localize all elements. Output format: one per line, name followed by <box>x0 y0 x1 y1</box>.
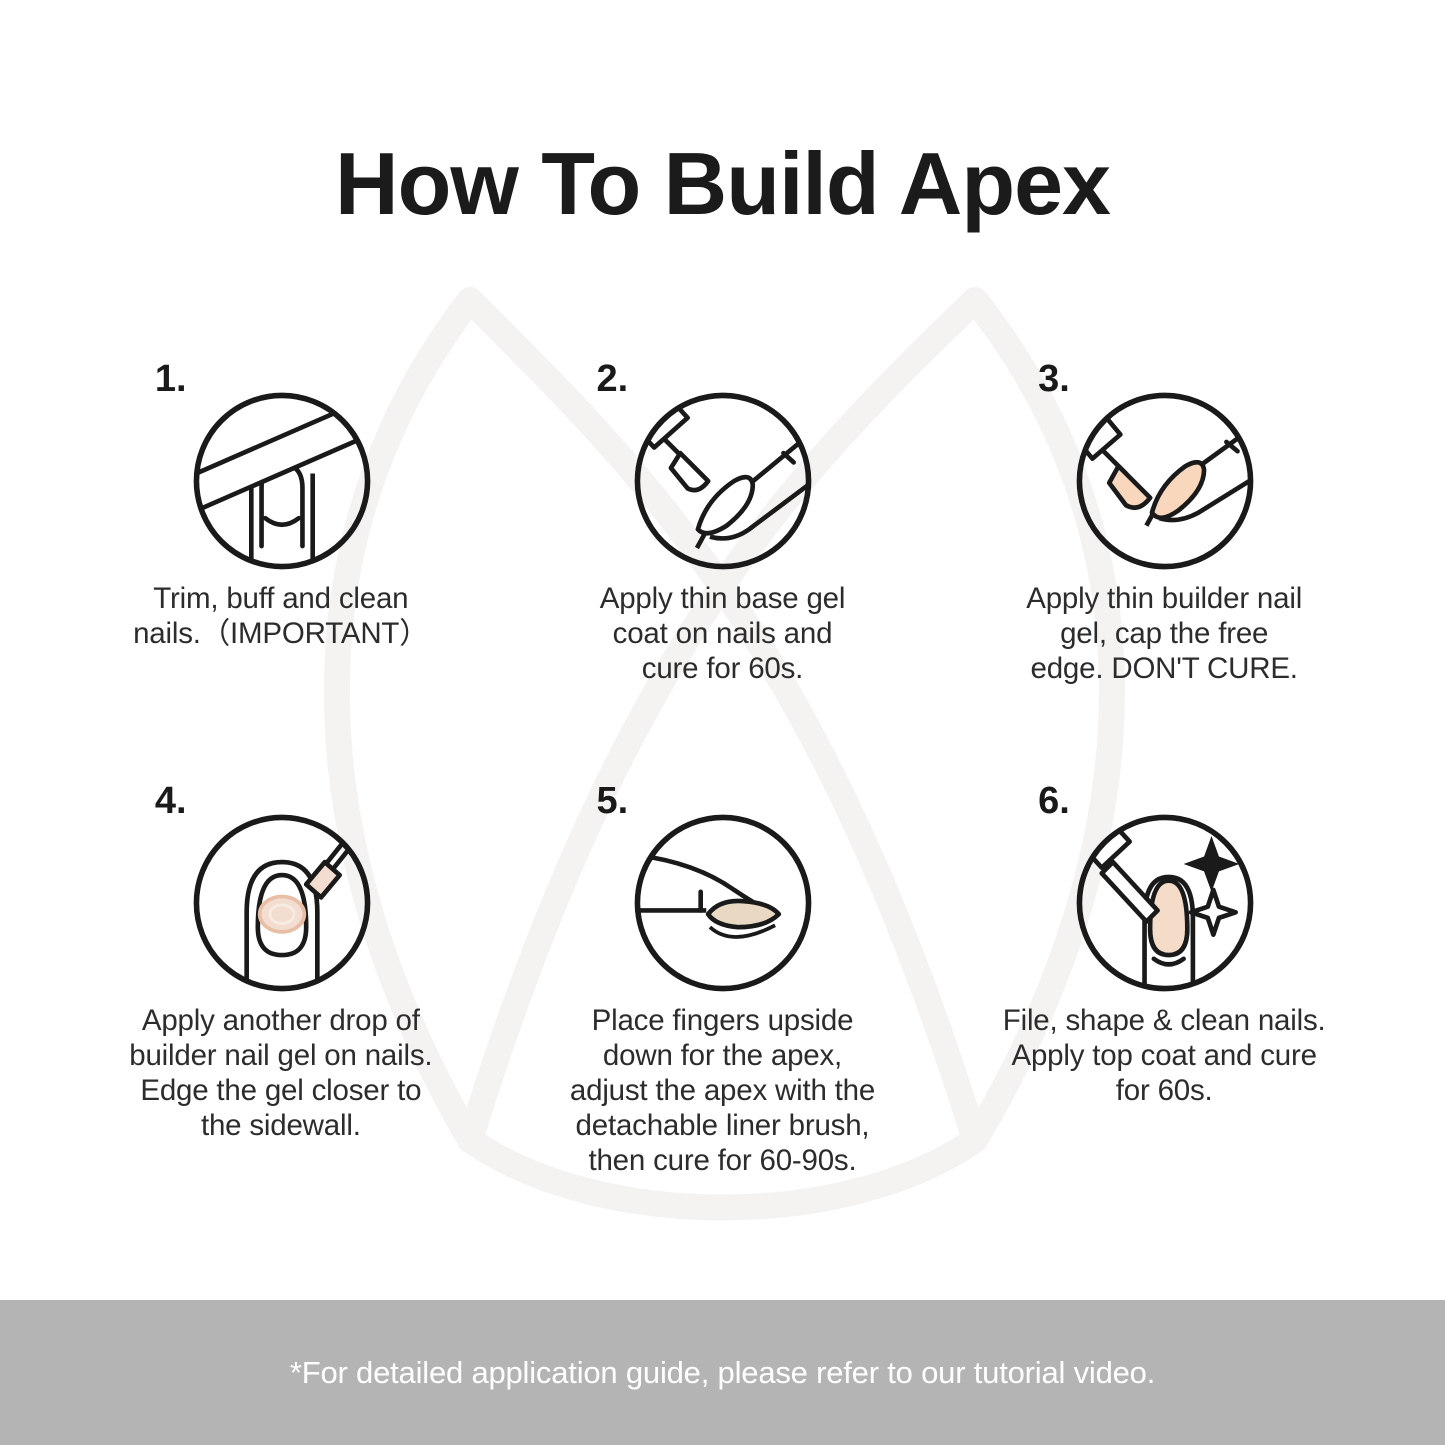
step-1-number: 1. <box>155 360 187 398</box>
step-3-number: 3. <box>1038 360 1070 398</box>
finger-upside-down-icon <box>630 810 816 996</box>
brush-base-coat-icon <box>630 388 816 574</box>
step-2-number: 2. <box>596 360 628 398</box>
gel-drop-on-nail-icon <box>189 810 375 996</box>
step-1: 1. Trim, buff and clean nails.（IMPORTANT… <box>60 360 502 686</box>
step-1-head: 1. <box>151 360 411 572</box>
step-1-caption: Trim, buff and clean nails.（IMPORTANT） <box>116 582 446 652</box>
footer-note: *For detailed application guide, please … <box>290 1355 1155 1391</box>
step-4-number: 4. <box>155 782 187 820</box>
step-3-head: 3. <box>1034 360 1294 572</box>
step-2: 2. <box>502 360 944 686</box>
step-6-caption: File, shape & clean nails. Apply top coa… <box>989 1004 1339 1108</box>
file-and-topcoat-sparkle-icon <box>1072 810 1258 996</box>
step-5: 5. Place fingers upsi <box>502 782 944 1178</box>
step-3: 3. <box>943 360 1385 686</box>
footer-bar: *For detailed application guide, please … <box>0 1300 1445 1445</box>
step-2-caption: Apply thin base gel coat on nails and cu… <box>557 582 887 686</box>
step-5-number: 5. <box>596 782 628 820</box>
step-2-head: 2. <box>592 360 852 572</box>
step-4-head: 4. <box>151 782 411 994</box>
step-6-head: 6. <box>1034 782 1294 994</box>
step-5-caption: Place fingers upside down for the apex, … <box>547 1004 897 1178</box>
step-6-number: 6. <box>1038 782 1070 820</box>
step-3-caption: Apply thin builder nail gel, cap the fre… <box>999 582 1329 686</box>
step-4-caption: Apply another drop of builder nail gel o… <box>106 1004 456 1143</box>
brush-builder-gel-icon <box>1072 388 1258 574</box>
page-title: How To Build Apex <box>335 140 1110 228</box>
page-title-container: How To Build Apex <box>0 140 1445 228</box>
infographic-page: How To Build Apex 1. <box>0 0 1445 1445</box>
steps-grid: 1. Trim, buff and clean nails.（IMPORTANT… <box>60 360 1385 1178</box>
nail-file-on-finger-icon <box>189 388 375 574</box>
step-4: 4. <box>60 782 502 1178</box>
step-5-head: 5. <box>592 782 852 994</box>
step-6: 6. <box>943 782 1385 1178</box>
